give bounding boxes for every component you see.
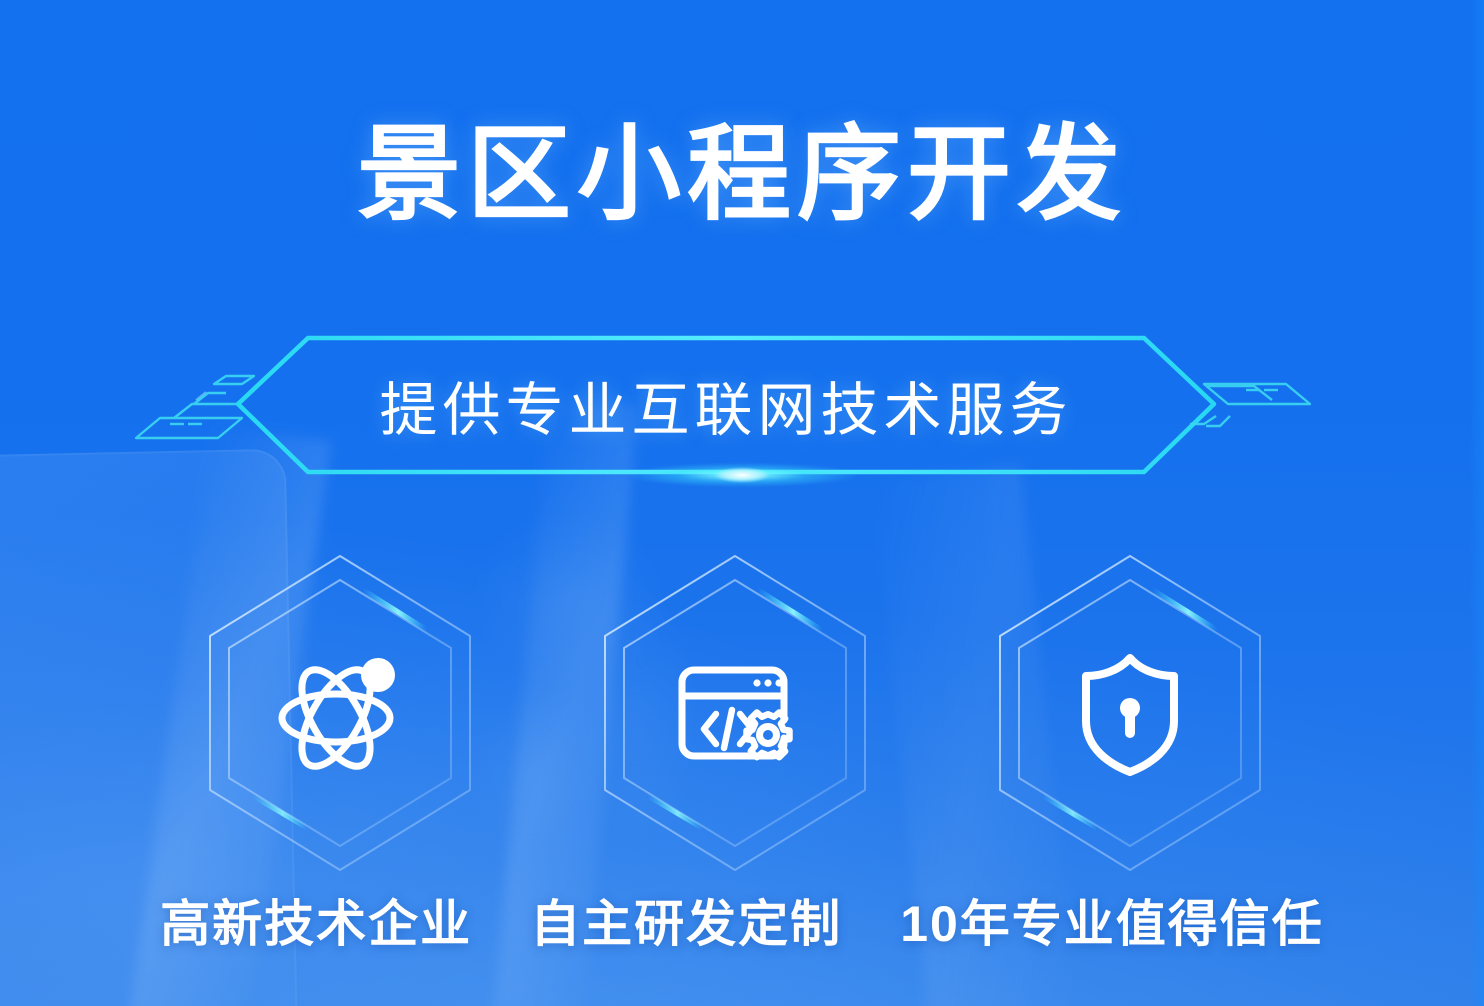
atom-icon bbox=[265, 638, 415, 788]
page-title: 景区小程序开发 bbox=[0, 118, 1484, 232]
feature-item bbox=[195, 548, 485, 878]
subtitle-text: 提供专业互联网技术服务 bbox=[236, 336, 1216, 474]
feature-label-1: 自主研发定制 bbox=[530, 884, 842, 956]
tech-decoration-right-icon bbox=[1186, 360, 1316, 460]
feature-label-2: 10年专业值得信任 bbox=[900, 884, 1324, 956]
subtitle-banner: 提供专业互联网技术服务 bbox=[0, 336, 1484, 486]
feature-list bbox=[0, 548, 1484, 878]
feature-label-0: 高新技术企业 bbox=[160, 884, 472, 956]
shield-lock-icon bbox=[1055, 638, 1205, 788]
feature-labels: 高新技术企业 自主研发定制 10年专业值得信任 bbox=[0, 884, 1484, 956]
feature-item bbox=[590, 548, 880, 878]
promo-banner: 景区小程序开发 bbox=[0, 0, 1484, 1006]
code-window-gear-icon bbox=[660, 638, 810, 788]
feature-item bbox=[985, 548, 1275, 878]
